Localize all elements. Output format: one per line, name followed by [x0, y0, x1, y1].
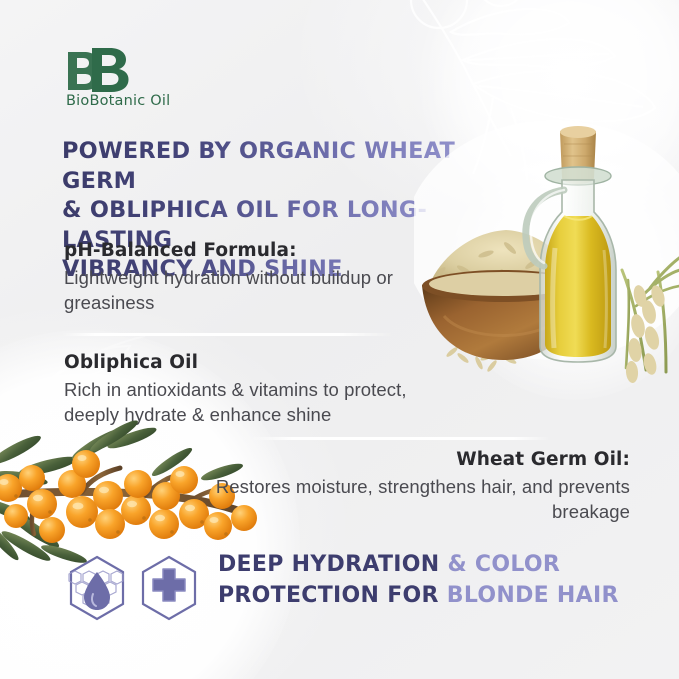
feature-ph-balanced: pH-Balanced Formula: Lightweight hydrati…: [64, 239, 444, 315]
feature-heading: Wheat Germ Oil:: [210, 448, 630, 471]
feature-obliphica-oil: Obliphica Oil Rich in antioxidants & vit…: [64, 351, 464, 427]
feature-body: Restores moisture, strengthens hair, and…: [210, 474, 630, 524]
headline-line-1: POWERED BY ORGANIC WHEAT GERM: [62, 138, 455, 194]
feature-wheat-germ-oil: Wheat Germ Oil: Restores moisture, stren…: [210, 448, 630, 524]
product-infographic: BioBotanic Oil POWERED BY ORGANIC WHEAT …: [0, 0, 679, 679]
brand-logo: BioBotanic Oil: [64, 46, 244, 109]
banner-line-1: DEEP HYDRATION & COLOR: [218, 549, 668, 580]
banner-headline: DEEP HYDRATION & COLOR PROTECTION FOR BL…: [218, 549, 668, 611]
bottom-benefit-banner: DEEP HYDRATION & COLOR PROTECTION FOR BL…: [0, 542, 679, 638]
banner-line-1-light: & COLOR: [439, 552, 560, 577]
feature-heading: pH-Balanced Formula:: [64, 239, 444, 262]
hydration-droplet-hex-icon: [66, 554, 128, 622]
protection-plus-hex-icon: [138, 554, 200, 622]
feature-body: Lightweight hydration without buildup or…: [64, 265, 444, 315]
banner-line-2-dark: PROTECTION FOR: [218, 583, 439, 608]
banner-line-2-light: BLONDE HAIR: [439, 583, 619, 608]
section-divider: [250, 437, 550, 440]
bb-monogram-icon: [64, 46, 138, 92]
banner-line-2: PROTECTION FOR BLONDE HAIR: [218, 580, 668, 611]
section-divider: [62, 333, 392, 336]
wheat-germ-oil-image: [414, 120, 679, 385]
feature-heading: Obliphica Oil: [64, 351, 464, 374]
brand-name: BioBotanic Oil: [66, 93, 244, 109]
banner-line-1-dark: DEEP HYDRATION: [218, 552, 439, 577]
benefit-icon-group: [66, 554, 200, 622]
